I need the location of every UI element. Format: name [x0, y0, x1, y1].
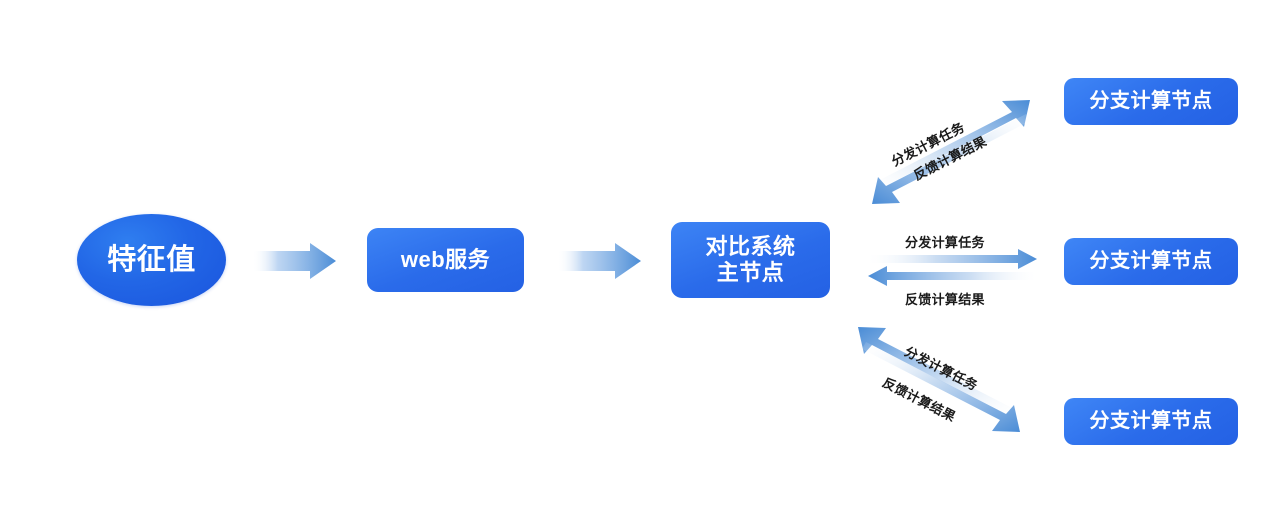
arrow-source-to-web — [253, 243, 336, 279]
node-branch-3[interactable]: 分支计算节点 — [1064, 398, 1238, 445]
node-branch-2[interactable]: 分支计算节点 — [1064, 238, 1238, 285]
node-master[interactable]: 对比系统 主节点 — [671, 222, 830, 298]
node-master-line2: 主节点 — [717, 260, 785, 286]
node-master-line1: 对比系统 — [705, 234, 795, 260]
arrow-dispatch-branch-2 — [868, 249, 1037, 269]
edge-label-dispatch-branch-2: 分发计算任务 — [905, 232, 985, 251]
node-branch-1[interactable]: 分支计算节点 — [1064, 78, 1238, 125]
arrow-feedback-branch-2 — [868, 266, 1037, 286]
node-feature-value[interactable]: 特征值 — [77, 214, 226, 306]
node-web-service[interactable]: web服务 — [367, 228, 524, 292]
arrow-web-to-master — [558, 243, 641, 279]
edge-label-feedback-branch-2: 反馈计算结果 — [905, 289, 985, 308]
